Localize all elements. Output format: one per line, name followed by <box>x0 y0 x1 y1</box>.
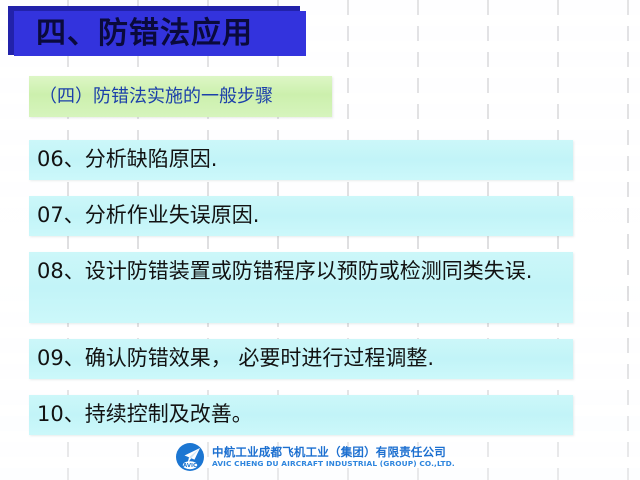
step-label: 10、持续控制及改善。 <box>29 395 573 433</box>
company-name-en: AVIC CHENG DU AIRCRAFT INDUSTRIAL (GROUP… <box>212 460 455 468</box>
avic-logo-icon: AVIC <box>175 442 205 472</box>
step-item-07: 07、分析作业失误原因. <box>29 196 573 236</box>
subtitle-label: （四）防错法实施的一般步骤 <box>39 76 326 117</box>
step-item-08: 08、设计防错装置或防错程序以预防或检测同类失误. <box>29 252 573 323</box>
page-title: 四、防错法应用 <box>14 11 306 56</box>
company-name-cn: 中航工业成都飞机工业（集团）有限责任公司 <box>212 446 455 458</box>
subtitle-box: （四）防错法实施的一般步骤 <box>29 76 332 117</box>
slide-canvas: 四、防错法应用 （四）防错法实施的一般步骤 06、分析缺陷原因. 07、分析作业… <box>0 0 640 480</box>
step-label: 09、确认防错效果， 必要时进行过程调整. <box>29 339 573 377</box>
svg-text:AVIC: AVIC <box>183 463 197 469</box>
slide-title-block: 四、防错法应用 <box>8 6 300 55</box>
step-label: 06、分析缺陷原因. <box>29 140 573 178</box>
step-item-10: 10、持续控制及改善。 <box>29 395 573 435</box>
footer-company-logo: AVIC 中航工业成都飞机工业（集团）有限责任公司 AVIC CHENG DU … <box>175 440 475 474</box>
step-item-06: 06、分析缺陷原因. <box>29 140 573 180</box>
step-item-09: 09、确认防错效果， 必要时进行过程调整. <box>29 339 573 379</box>
logo-text-group: 中航工业成都飞机工业（集团）有限责任公司 AVIC CHENG DU AIRCR… <box>212 446 455 468</box>
step-label: 07、分析作业失误原因. <box>29 196 573 234</box>
step-label: 08、设计防错装置或防错程序以预防或检测同类失误. <box>29 252 573 290</box>
